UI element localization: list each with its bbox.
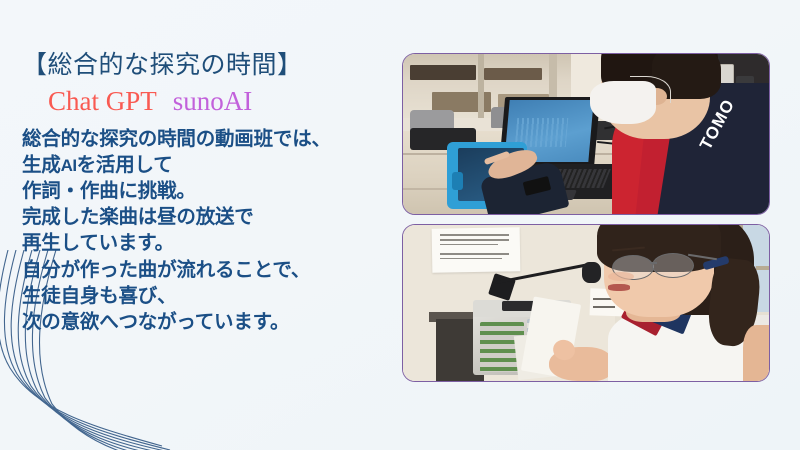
body-line-8: 次の意欲へつながっています。 bbox=[22, 309, 394, 335]
photo-classroom-tablet-laptop: TOMO bbox=[402, 53, 770, 215]
body-line-2-prefix: 生成 bbox=[22, 154, 61, 176]
microphone-head bbox=[582, 262, 600, 282]
body-line-2-latin: AI bbox=[61, 156, 77, 175]
small-note-line-2 bbox=[593, 306, 615, 307]
body-line-2-suffix: を活用して bbox=[77, 154, 173, 176]
body-line-5: 再生しています。 bbox=[22, 230, 394, 256]
text-column: 【総合的な探究の時間】 Chat GPTsunoAI 総合的な探究の時間の動画班… bbox=[22, 52, 394, 335]
photo-bottom-scene bbox=[403, 225, 769, 381]
body-line-4: 完成した楽曲は昼の放送で bbox=[22, 204, 394, 230]
shelf-books-2 bbox=[484, 68, 543, 79]
photo-broadcast-room-microphone bbox=[402, 224, 770, 382]
notice-text-line-3 bbox=[440, 244, 499, 246]
notice-text-line-2 bbox=[440, 239, 510, 241]
slide-canvas: 【総合的な探究の時間】 Chat GPTsunoAI 総合的な探究の時間の動画班… bbox=[0, 0, 800, 450]
body-line-7: 生徒自身も喜び、 bbox=[22, 283, 394, 309]
tablet-case-handle bbox=[452, 172, 463, 190]
body-paragraph: 総合的な探究の時間の動画班では、 生成AIを活用して 作詞・作曲に挑戦。 完成し… bbox=[22, 126, 394, 336]
ai-tools-title: Chat GPTsunoAI bbox=[22, 86, 394, 117]
eyeglasses-bridge bbox=[650, 262, 657, 264]
notice-text-line-5 bbox=[440, 258, 502, 260]
body-line-3: 作詞・作曲に挑戦。 bbox=[22, 178, 394, 204]
photo-top-scene: TOMO bbox=[403, 54, 769, 214]
cabinet-divider-1 bbox=[478, 54, 483, 118]
second-person-arm bbox=[743, 325, 769, 381]
notice-text-line-4 bbox=[440, 253, 510, 255]
student-mouth bbox=[608, 284, 630, 290]
shelf-books-1 bbox=[410, 65, 476, 79]
body-line-2: 生成AIを活用して bbox=[22, 152, 394, 178]
body-line-6: 自分が作った曲が流れることで、 bbox=[22, 257, 394, 283]
page-title: 【総合的な探究の時間】 bbox=[22, 52, 394, 80]
body-line-1: 総合的な探究の時間の動画班では、 bbox=[22, 126, 394, 152]
student-cheek bbox=[608, 272, 634, 281]
notice-text-line-1 bbox=[440, 234, 510, 236]
tool-name-chatgpt: Chat GPT bbox=[48, 86, 157, 116]
tool-name-sunoai: sunoAI bbox=[173, 86, 253, 116]
